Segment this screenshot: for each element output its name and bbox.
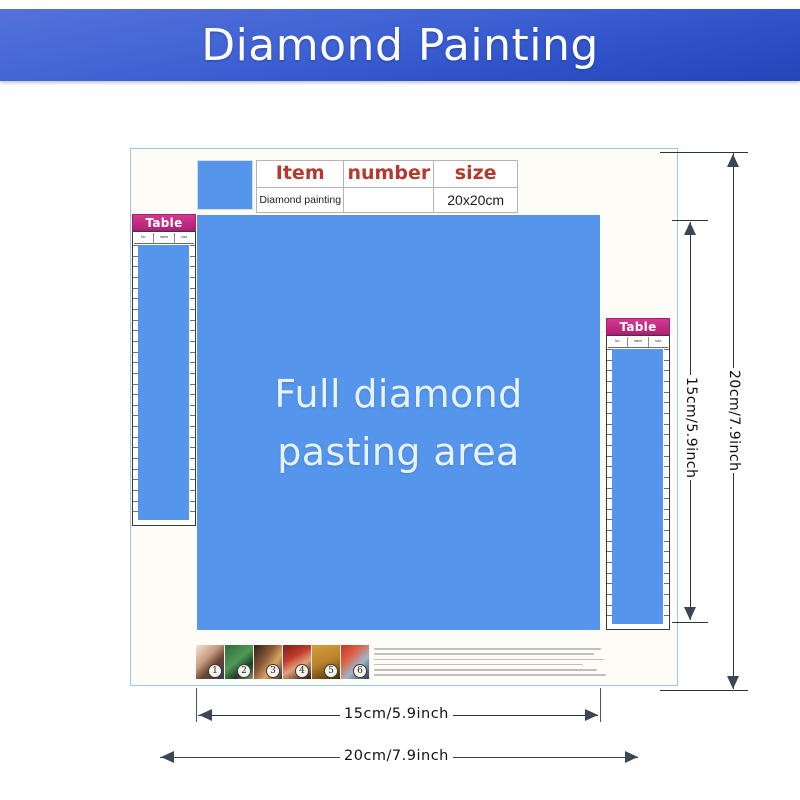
- ruler-table-right: Table No. name size: [606, 318, 670, 630]
- ruler-body-right: No. name size: [606, 335, 670, 630]
- step-number-badge: 1: [208, 664, 222, 678]
- dim-label-vertical-outer: 20cm/7.9inch: [726, 368, 742, 473]
- ruler-head-right: No. name size: [608, 337, 668, 348]
- step-number-badge: 3: [266, 664, 280, 678]
- ruler-fill-left: [138, 245, 189, 520]
- step-number-badge: 6: [353, 664, 367, 678]
- table-header-row: Item number size: [257, 161, 518, 188]
- dim-arrow-h-outer-left: [161, 751, 174, 763]
- page-title: Diamond Painting: [201, 20, 599, 71]
- ruler-head-cell: size: [175, 233, 194, 243]
- diagram-root: Diamond Painting Item number size Diamon…: [0, 0, 800, 800]
- dim-arrow-h-inner-right: [585, 709, 598, 721]
- ruler-ticks-left: [133, 245, 138, 522]
- ruler-ticks-left: [607, 349, 612, 626]
- dim-arrow-outer-top: [727, 154, 739, 167]
- step-thumbnail: 5: [312, 645, 341, 679]
- ruler-badge-right: Table: [606, 318, 670, 335]
- cell-item: Diamond painting: [257, 188, 344, 213]
- header-banner: Diamond Painting: [0, 9, 800, 81]
- step-number-badge: 5: [324, 664, 338, 678]
- step-number-badge: 4: [295, 664, 309, 678]
- table-header-size: size: [434, 161, 518, 188]
- step-thumbnail: 4: [283, 645, 312, 679]
- step-thumbnail: 6: [341, 645, 370, 679]
- dim-tick-outer-bottom: [660, 690, 748, 691]
- ruler-table-left: Table No. name size: [132, 214, 196, 526]
- ruler-head-cell: size: [649, 337, 668, 347]
- ruler-head-cell: name: [154, 233, 174, 243]
- full-diamond-pasting-area: Full diamond pasting area: [197, 215, 600, 630]
- instruction-line: [374, 674, 606, 676]
- dim-label-horizontal-inner: 15cm/5.9inch: [340, 706, 453, 722]
- dim-tick-h-inner-left: [196, 688, 197, 722]
- color-swatch: [197, 160, 253, 210]
- step-thumbnail: 3: [254, 645, 283, 679]
- ruler-body-left: No. name size: [132, 231, 196, 526]
- dim-arrow-outer-bottom: [727, 676, 739, 689]
- cell-size: 20x20cm: [434, 188, 518, 213]
- dim-arrow-inner-bottom: [684, 607, 696, 620]
- instruction-line: [374, 659, 604, 661]
- ruler-ticks-right: [664, 349, 669, 626]
- step-thumbnail: 2: [225, 645, 254, 679]
- dim-tick-inner-bottom: [672, 622, 708, 623]
- dim-arrow-h-inner-left: [199, 709, 212, 721]
- dim-label-horizontal-outer: 20cm/7.9inch: [340, 748, 453, 764]
- ruler-fill-right: [612, 349, 663, 624]
- ruler-head-cell: No.: [134, 233, 154, 243]
- pasting-area-line-1: Full diamond: [274, 372, 522, 416]
- instruction-line: [374, 653, 594, 655]
- ruler-badge-left: Table: [132, 214, 196, 231]
- table-header-item: Item: [257, 161, 344, 188]
- instruction-text-block: [374, 647, 606, 677]
- ruler-head-left: No. name size: [134, 233, 194, 244]
- dim-label-vertical-inner: 15cm/5.9inch: [683, 375, 699, 480]
- dim-tick-h-inner-right: [600, 688, 601, 722]
- dim-arrow-inner-top: [684, 222, 696, 235]
- cell-number: [344, 188, 434, 213]
- instruction-line: [374, 664, 583, 666]
- table-header-number: number: [344, 161, 434, 188]
- ruler-head-cell: No.: [608, 337, 628, 347]
- step-thumbnail: 1: [196, 645, 225, 679]
- step-number-badge: 2: [237, 664, 251, 678]
- instruction-line: [374, 648, 601, 650]
- pasting-area-line-2: pasting area: [277, 430, 520, 474]
- ruler-ticks-right: [190, 245, 195, 522]
- ruler-head-cell: name: [628, 337, 648, 347]
- table-row: Diamond painting 20x20cm: [257, 188, 518, 213]
- step-thumbnail-strip: 123456: [196, 645, 370, 679]
- spec-table: Item number size Diamond painting 20x20c…: [256, 160, 518, 213]
- instruction-line: [374, 669, 597, 671]
- dim-arrow-h-outer-right: [625, 751, 638, 763]
